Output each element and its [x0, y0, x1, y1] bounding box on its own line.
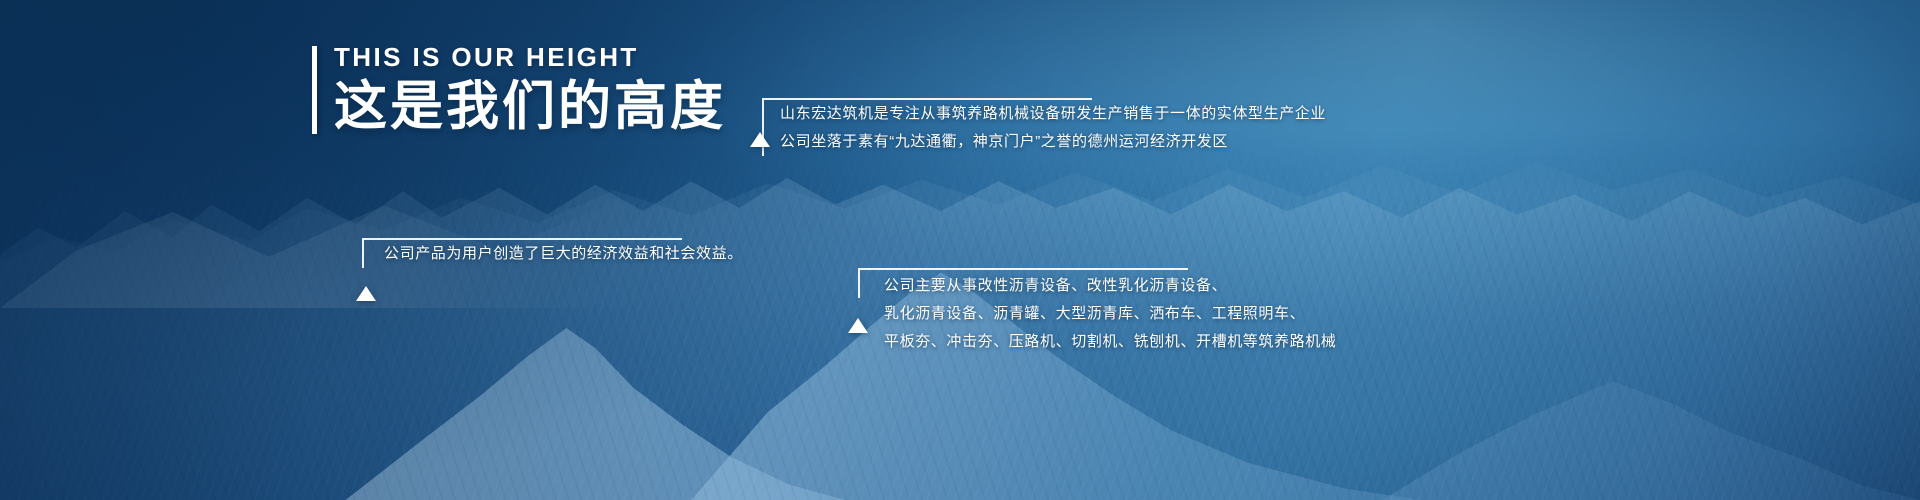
- callout-line: 公司主要从事改性沥青设备、改性乳化沥青设备、: [884, 272, 1336, 300]
- callout-text-group: 山东宏达筑机是专注从事筑养路机械设备研发生产销售于一体的实体型生产企业 公司坐落…: [762, 98, 1326, 156]
- callout-line: 公司坐落于素有“九达通衢，神京门户”之誉的德州运河经济开发区: [780, 128, 1326, 156]
- callout-products: 公司主要从事改性沥青设备、改性乳化沥青设备、 乳化沥青设备、沥青罐、大型沥青库、…: [858, 268, 1336, 356]
- callout-line: 山东宏达筑机是专注从事筑养路机械设备研发生产销售于一体的实体型生产企业: [780, 100, 1326, 128]
- callout-line: 公司产品为用户创造了巨大的经济效益和社会效益。: [384, 240, 743, 268]
- callout-line: 平板夯、冲击夯、压路机、切割机、铣刨机、开槽机等筑养路机械: [884, 328, 1336, 356]
- triangle-marker-icon: [356, 286, 376, 301]
- title-english: THIS IS OUR HEIGHT: [334, 44, 726, 71]
- callout-line: 乳化沥青设备、沥青罐、大型沥青库、洒布车、工程照明车、: [884, 300, 1336, 328]
- callout-text-group: 公司主要从事改性沥青设备、改性乳化沥青设备、 乳化沥青设备、沥青罐、大型沥青库、…: [858, 268, 1336, 356]
- page-title: THIS IS OUR HEIGHT 这是我们的高度: [312, 44, 726, 137]
- callout-company-intro: 山东宏达筑机是专注从事筑养路机械设备研发生产销售于一体的实体型生产企业 公司坐落…: [762, 98, 1326, 156]
- callout-text-group: 公司产品为用户创造了巨大的经济效益和社会效益。: [362, 238, 743, 268]
- banner-content: THIS IS OUR HEIGHT 这是我们的高度 山东宏达筑机是专注从事筑养…: [0, 0, 1920, 500]
- callout-benefit: 公司产品为用户创造了巨大的经济效益和社会效益。: [362, 238, 743, 268]
- title-chinese: 这是我们的高度: [334, 77, 726, 136]
- hero-banner: THIS IS OUR HEIGHT 这是我们的高度 山东宏达筑机是专注从事筑养…: [0, 0, 1920, 500]
